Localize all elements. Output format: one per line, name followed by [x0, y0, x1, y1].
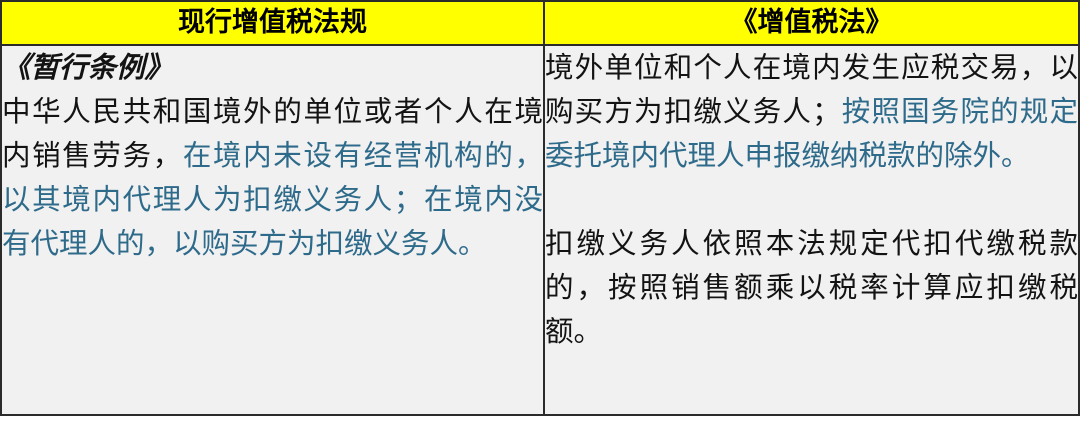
right-paragraph-1: 境外单位和个人在境内发生应税交易，以购买方为扣缴义务人；按照国务院的规定委托境内… — [545, 46, 1078, 178]
regulation-title: 《暂行条例》 — [2, 46, 543, 90]
header-cell-vat-law: 《增值税法》 — [544, 1, 1079, 45]
header-cell-current-regulations: 现行增值税法规 — [1, 1, 544, 45]
body-cell-current-regulations: 《暂行条例》 中华人民共和国境外的单位或者个人在境内销售劳务，在境内未设有经营机… — [1, 45, 544, 415]
header-label-right: 《增值税法》 — [545, 2, 1078, 42]
table-header-row: 现行增值税法规 《增值税法》 — [1, 1, 1079, 45]
body-cell-vat-law: 境外单位和个人在境内发生应税交易，以购买方为扣缴义务人；按照国务院的规定委托境内… — [544, 45, 1079, 415]
right-paragraph-2: 扣缴义务人依照本法规定代扣代缴税款的，按照销售额乘以税率计算应扣缴税额。 — [545, 222, 1078, 354]
vat-comparison-table: 现行增值税法规 《增值税法》 《暂行条例》 中华人民共和国境外的单位或者个人在境… — [0, 0, 1080, 416]
left-paragraph: 中华人民共和国境外的单位或者个人在境内销售劳务，在境内未设有经营机构的，以其境内… — [2, 90, 543, 266]
table-body-row: 《暂行条例》 中华人民共和国境外的单位或者个人在境内销售劳务，在境内未设有经营机… — [1, 45, 1079, 415]
header-label-left: 现行增值税法规 — [2, 2, 543, 42]
